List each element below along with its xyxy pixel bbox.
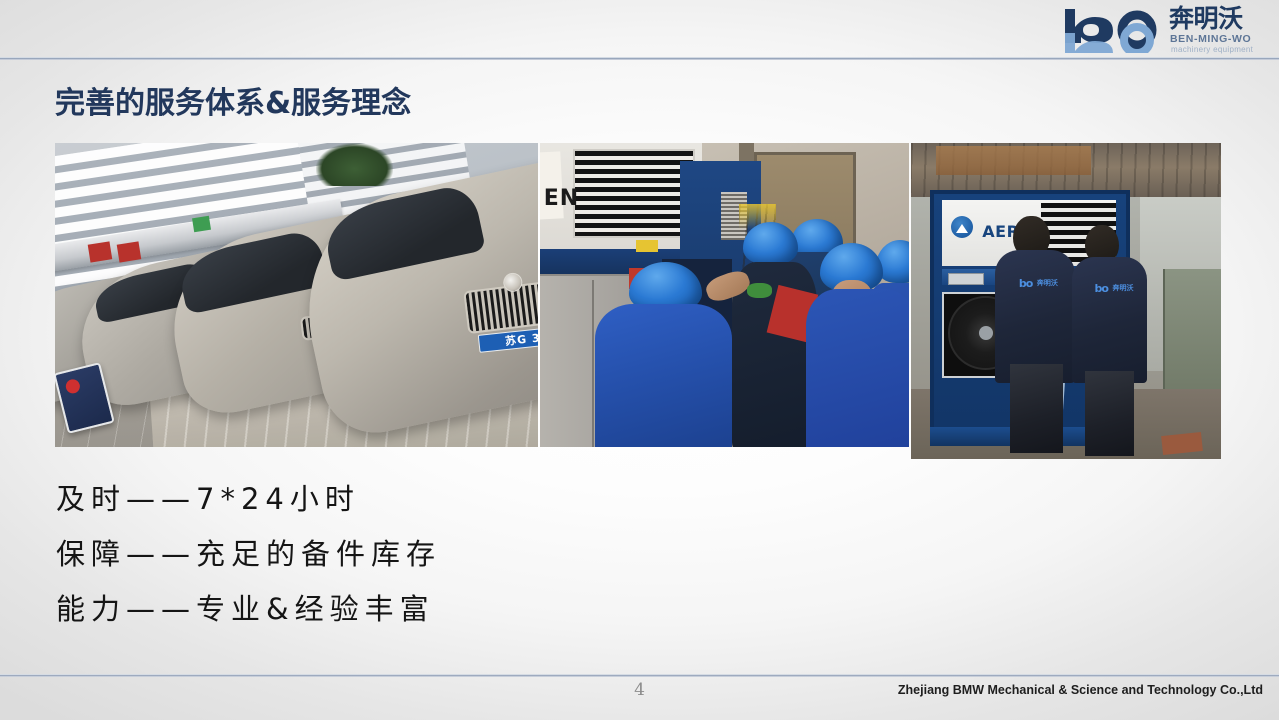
uniform-logo-chinese: 奔明沃 xyxy=(1037,278,1058,288)
warning-sticker-yellow xyxy=(636,240,658,252)
red-shop-sign xyxy=(116,242,140,263)
bo-monogram-icon xyxy=(1061,7,1169,53)
technician-legs xyxy=(1085,371,1135,456)
service-principle-timeliness: 及时——7*24小时 xyxy=(56,472,756,527)
tree-foliage xyxy=(316,143,393,186)
service-principles-list: 及时——7*24小时 保障——充足的备件库存 能力——专业&经验丰富 xyxy=(56,472,756,637)
uniform-logo-bo: bo xyxy=(1019,277,1032,290)
machine-brand-label: EN xyxy=(544,186,579,211)
photo-strip: 苏G 382P8 EN xyxy=(55,143,1221,459)
logo-tagline: machinery equipment xyxy=(1171,45,1253,54)
photo-onsite-service: EN xyxy=(540,143,909,447)
uniform-back-logo: bo 奔明沃 xyxy=(1095,282,1125,300)
uniform-logo-bo: bo xyxy=(1095,282,1108,295)
footer-divider xyxy=(0,674,1279,677)
roof-rust-patch xyxy=(936,146,1091,174)
worker-torso xyxy=(806,289,909,447)
slide-header: 奔明沃 BEN-MING-WO machinery equipment xyxy=(0,0,1279,58)
red-shop-sign xyxy=(88,242,112,263)
presentation-slide: 奔明沃 BEN-MING-WO machinery equipment 完善的服… xyxy=(0,0,1279,720)
logo-pinyin: BEN-MING-WO xyxy=(1170,33,1251,45)
uniform-logo-chinese: 奔明沃 xyxy=(1113,283,1134,293)
machine-air-louver xyxy=(573,149,695,238)
uniform-back-logo: bo 奔明沃 xyxy=(1019,277,1051,296)
logo-chinese-name: 奔明沃 xyxy=(1169,5,1243,33)
aerzen-logo-icon xyxy=(951,216,973,238)
front-grille xyxy=(463,275,538,335)
worker-blue-overall xyxy=(595,304,732,447)
cabinet-door-seam xyxy=(592,280,594,447)
service-principle-assurance: 保障——充足的备件库存 xyxy=(56,527,756,582)
brick-debris xyxy=(1161,432,1203,455)
technician-jacket: bo 奔明沃 xyxy=(1072,257,1146,383)
slide-title: 完善的服务体系&服务理念 xyxy=(55,78,411,122)
company-logo: 奔明沃 BEN-MING-WO machinery equipment xyxy=(1057,4,1267,54)
service-principle-capability: 能力——专业&经验丰富 xyxy=(56,582,756,637)
header-divider xyxy=(0,57,1279,60)
photo-aerzen-maintenance: AERZEN bo 奔明沃 xyxy=(911,143,1221,459)
control-display xyxy=(948,273,984,285)
green-equipment-container xyxy=(1163,269,1221,395)
photo-fleet-cars: 苏G 382P8 xyxy=(55,143,538,447)
green-glove xyxy=(747,283,773,298)
technician-legs xyxy=(1010,364,1063,452)
footer-company-name: Zhejiang BMW Mechanical & Science and Te… xyxy=(898,683,1263,697)
